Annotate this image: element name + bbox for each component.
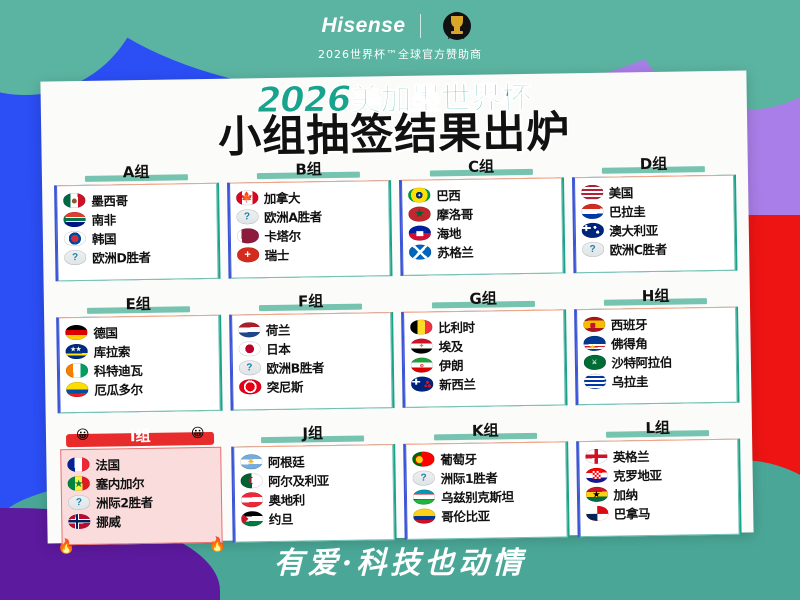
team-name: 葡萄牙 bbox=[440, 449, 477, 469]
group-header: B组 bbox=[228, 158, 389, 181]
team-row[interactable]: 德国 bbox=[65, 321, 213, 342]
group-team-list: ☀阿根廷☾阿尔及利亚奥地利约旦 bbox=[233, 444, 395, 543]
groups-grid: A组墨西哥南非韩国?欧洲D胜者B组🍁加拿大?欧洲A胜者卡塔尔+瑞士C组✦巴西★摩… bbox=[56, 153, 740, 546]
group-label: H组 bbox=[642, 287, 670, 305]
team-row[interactable]: ☀阿根廷 bbox=[240, 450, 388, 471]
group-label: E组 bbox=[125, 295, 151, 313]
team-row[interactable]: 乌兹别克斯坦 bbox=[413, 485, 561, 506]
team-row[interactable]: ?欧洲D胜者 bbox=[64, 246, 212, 267]
team-name: 荷兰 bbox=[266, 320, 290, 339]
team-row[interactable]: 巴拉圭 bbox=[581, 200, 729, 221]
team-name: 库拉索 bbox=[94, 341, 131, 361]
group-card-I组[interactable]: 😀😀I组法国★塞内加尔?洲际2胜者挪威🔥🔥 bbox=[60, 425, 222, 546]
team-name: 海地 bbox=[437, 223, 461, 242]
team-row[interactable]: 比利时 bbox=[410, 315, 558, 336]
group-card-F组[interactable]: F组荷兰日本?欧洲B胜者突尼斯 bbox=[230, 290, 392, 411]
team-name: 克罗地亚 bbox=[613, 465, 662, 485]
team-row[interactable]: 苏格兰 bbox=[409, 240, 557, 261]
team-name: 日本 bbox=[266, 339, 290, 358]
team-row[interactable]: 澳大利亚 bbox=[581, 219, 729, 240]
flag-icon-uzbekistan bbox=[413, 489, 435, 504]
flag-icon-belgium bbox=[410, 319, 432, 334]
team-row[interactable]: ?欧洲B胜者 bbox=[238, 356, 386, 377]
group-header: L组 bbox=[577, 417, 738, 440]
flag-icon-norway bbox=[68, 514, 90, 529]
team-name: 约旦 bbox=[269, 509, 293, 528]
flag-icon-unknown: ? bbox=[68, 495, 90, 510]
team-row[interactable]: ?洲际1胜者 bbox=[413, 466, 561, 487]
team-row[interactable]: 约旦 bbox=[241, 507, 389, 528]
group-label: I组 bbox=[130, 427, 151, 445]
team-name: 澳大利亚 bbox=[609, 220, 658, 240]
flag-icon-argentina: ☀ bbox=[240, 454, 262, 469]
team-name: 比利时 bbox=[438, 317, 475, 337]
team-row[interactable]: 奥地利 bbox=[240, 488, 388, 509]
team-row[interactable]: ★摩洛哥 bbox=[408, 202, 556, 223]
team-name: 欧洲A胜者 bbox=[264, 206, 322, 226]
flag-icon-algeria: ☾ bbox=[240, 473, 262, 488]
slogan-text: 有爱·科技也动情 bbox=[274, 546, 526, 581]
group-label: G组 bbox=[469, 289, 497, 307]
group-label: J组 bbox=[302, 424, 323, 442]
team-name: 科特迪瓦 bbox=[94, 360, 143, 380]
smiley-face-icon-left: 😀 bbox=[76, 428, 90, 441]
fifa-trophy-icon: FIFA bbox=[435, 10, 479, 42]
group-label: A组 bbox=[123, 163, 150, 181]
flag-icon-unknown: ? bbox=[236, 209, 258, 224]
fifa-label: FIFA bbox=[435, 34, 479, 41]
flag-icon-unknown: ? bbox=[238, 360, 260, 375]
flag-icon-ecuador bbox=[66, 382, 88, 397]
hisense-logo: Hisense bbox=[321, 14, 405, 38]
team-row[interactable]: 荷兰 bbox=[238, 318, 386, 339]
team-name: 突尼斯 bbox=[267, 376, 304, 396]
flag-icon-haiti bbox=[409, 225, 431, 240]
team-row[interactable]: 厄瓜多尔 bbox=[66, 378, 214, 399]
flag-icon-egypt: ✦ bbox=[411, 338, 433, 353]
group-team-list: 德国★★库拉索科特迪瓦厄瓜多尔 bbox=[58, 315, 220, 414]
flag-icon-ivory-coast bbox=[66, 363, 88, 378]
team-name: 加拿大 bbox=[264, 188, 301, 208]
flag-icon-scotland bbox=[409, 244, 431, 259]
flag-icon-spain bbox=[583, 317, 605, 332]
sponsor-subtitle: 2026世界杯™全球官方赞助商 bbox=[318, 46, 482, 62]
team-row[interactable]: 巴拿马 bbox=[586, 502, 734, 523]
team-name: 欧洲C胜者 bbox=[609, 239, 666, 259]
poster-content: 2026美加墨世界杯 小组抽签结果出炉 A组墨西哥南非韩国?欧洲D胜者B组🍁加拿… bbox=[40, 70, 753, 543]
flag-icon-mexico bbox=[63, 193, 85, 208]
team-row[interactable]: ✦埃及 bbox=[410, 334, 558, 355]
team-name: 洲际2胜者 bbox=[96, 492, 153, 512]
team-row[interactable]: 挪威 bbox=[68, 510, 216, 531]
team-row[interactable]: 乌拉圭 bbox=[584, 370, 732, 391]
flag-icon-australia bbox=[581, 223, 603, 238]
header: Hisense FIFA 2026世界杯™全球官方赞助商 bbox=[0, 0, 800, 72]
team-row[interactable]: 西班牙 bbox=[583, 313, 731, 334]
team-name: 挪威 bbox=[96, 511, 120, 530]
flag-icon-unknown: ? bbox=[413, 470, 435, 485]
team-row[interactable]: ★★库拉索 bbox=[66, 340, 214, 361]
team-row[interactable]: 南非 bbox=[63, 208, 211, 229]
group-team-list: 墨西哥南非韩国?欧洲D胜者 bbox=[56, 183, 218, 282]
team-name: 欧洲B胜者 bbox=[266, 357, 324, 377]
flag-icon-morocco: ★ bbox=[408, 206, 430, 221]
flag-icon-brazil: ✦ bbox=[408, 187, 430, 202]
team-row[interactable]: ✦巴西 bbox=[408, 183, 556, 204]
team-row[interactable]: ?洲际2胜者 bbox=[68, 491, 216, 512]
group-team-list: 美国巴拉圭澳大利亚?欧洲C胜者 bbox=[573, 175, 735, 274]
flag-icon-new-zealand bbox=[411, 376, 433, 391]
group-team-list: 英格兰克罗地亚★加纳巴拿马 bbox=[578, 439, 740, 538]
flag-icon-colombia bbox=[413, 508, 435, 523]
group-team-list: 西班牙★佛得角⚔沙特阿拉伯乌拉圭 bbox=[576, 307, 738, 406]
team-row[interactable]: 美国 bbox=[581, 181, 729, 202]
vertical-divider-icon bbox=[420, 14, 421, 38]
flag-icon-paraguay bbox=[581, 204, 603, 219]
group-header: J组 bbox=[232, 422, 393, 445]
footer: 有爱·科技也动情 bbox=[0, 538, 800, 582]
title-block: 2026美加墨世界杯 小组抽签结果出炉 bbox=[41, 76, 748, 163]
team-name: 阿尔及利亚 bbox=[268, 470, 329, 490]
flag-icon-south-korea bbox=[64, 231, 86, 246]
team-row[interactable]: +瑞士 bbox=[237, 243, 385, 264]
team-row[interactable]: 科特迪瓦 bbox=[66, 359, 214, 380]
flag-icon-england bbox=[585, 449, 607, 464]
flag-icon-tunisia bbox=[239, 379, 261, 394]
group-card-A组[interactable]: A组墨西哥南非韩国?欧洲D胜者 bbox=[56, 161, 218, 282]
team-name: 英格兰 bbox=[613, 446, 650, 466]
flag-icon-germany bbox=[65, 325, 87, 340]
team-name: 厄瓜多尔 bbox=[94, 379, 143, 399]
team-name: 伊朗 bbox=[439, 355, 463, 374]
team-row[interactable]: ۞伊朗 bbox=[411, 353, 559, 374]
team-name: 法国 bbox=[95, 454, 119, 473]
flag-icon-switzerland: + bbox=[237, 247, 259, 262]
team-name: 美国 bbox=[609, 182, 633, 201]
team-row[interactable]: 英格兰 bbox=[585, 445, 733, 466]
flag-icon-senegal: ★ bbox=[68, 476, 90, 491]
group-card-J组[interactable]: J组☀阿根廷☾阿尔及利亚奥地利约旦 bbox=[232, 422, 394, 543]
team-name: 哥伦比亚 bbox=[441, 506, 490, 526]
flag-icon-iran: ۞ bbox=[411, 357, 433, 372]
team-name: 乌兹别克斯坦 bbox=[441, 486, 514, 506]
team-row[interactable]: 韩国 bbox=[64, 227, 212, 248]
team-name: 埃及 bbox=[438, 336, 462, 355]
team-name: 巴拉圭 bbox=[609, 201, 646, 221]
team-row[interactable]: ?欧洲C胜者 bbox=[581, 238, 729, 259]
flag-icon-canada: 🍁 bbox=[236, 190, 258, 205]
flag-icon-japan bbox=[238, 341, 260, 356]
group-label: C组 bbox=[468, 157, 494, 175]
group-team-list: 葡萄牙?洲际1胜者乌兹别克斯坦哥伦比亚 bbox=[405, 441, 567, 540]
group-team-list: 比利时✦埃及۞伊朗新西兰 bbox=[403, 309, 565, 408]
group-label: K组 bbox=[472, 421, 499, 439]
group-card-E组[interactable]: E组德国★★库拉索科特迪瓦厄瓜多尔 bbox=[58, 293, 220, 414]
team-row[interactable]: 墨西哥 bbox=[63, 189, 211, 210]
group-header: D组 bbox=[573, 153, 734, 176]
group-header: 😀😀I组 bbox=[60, 425, 221, 448]
team-row[interactable]: 哥伦比亚 bbox=[413, 504, 561, 525]
flag-icon-croatia bbox=[585, 468, 607, 483]
team-name: 乌拉圭 bbox=[612, 371, 649, 391]
flag-icon-curacao: ★★ bbox=[66, 344, 88, 359]
group-label: L组 bbox=[645, 419, 670, 437]
team-row[interactable]: ★加纳 bbox=[585, 483, 733, 504]
group-team-list: 🍁加拿大?欧洲A胜者卡塔尔+瑞士 bbox=[229, 180, 391, 279]
team-row[interactable]: 新西兰 bbox=[411, 372, 559, 393]
team-name: 摩洛哥 bbox=[436, 204, 473, 224]
group-team-list: 荷兰日本?欧洲B胜者突尼斯 bbox=[231, 312, 393, 411]
brand-row: Hisense FIFA bbox=[321, 11, 478, 41]
team-row[interactable]: 日本 bbox=[238, 337, 386, 358]
team-row[interactable]: 卡塔尔 bbox=[236, 224, 384, 245]
flag-icon-netherlands bbox=[238, 322, 260, 337]
team-name: 苏格兰 bbox=[437, 242, 474, 262]
team-row[interactable]: 克罗地亚 bbox=[585, 464, 733, 485]
team-name: 沙特阿拉伯 bbox=[611, 352, 672, 372]
team-name: 塞内加尔 bbox=[96, 473, 145, 493]
team-name: 德国 bbox=[93, 322, 117, 341]
team-row[interactable]: 葡萄牙 bbox=[412, 447, 560, 468]
group-card-D组[interactable]: D组美国巴拉圭澳大利亚?欧洲C胜者 bbox=[573, 153, 735, 274]
group-label: B组 bbox=[295, 160, 322, 178]
flag-icon-panama bbox=[586, 506, 608, 521]
flag-icon-ghana: ★ bbox=[585, 487, 607, 502]
group-team-list: 法国★塞内加尔?洲际2胜者挪威 bbox=[60, 447, 222, 546]
team-name: 阿根廷 bbox=[268, 451, 305, 471]
team-row[interactable]: ☾阿尔及利亚 bbox=[240, 469, 388, 490]
team-row[interactable]: 突尼斯 bbox=[239, 375, 387, 396]
team-name: 瑞士 bbox=[265, 245, 289, 264]
team-name: 巴拿马 bbox=[614, 503, 651, 523]
flag-icon-unknown: ? bbox=[582, 242, 604, 257]
team-name: 佛得角 bbox=[611, 333, 648, 353]
flag-icon-jordan bbox=[241, 511, 263, 526]
group-card-K组[interactable]: K组葡萄牙?洲际1胜者乌兹别克斯坦哥伦比亚 bbox=[405, 419, 567, 540]
group-header: K组 bbox=[405, 419, 566, 442]
flag-icon-cape-verde: ★ bbox=[583, 336, 605, 351]
team-row[interactable]: ⚔沙特阿拉伯 bbox=[583, 351, 731, 372]
team-name: 洲际1胜者 bbox=[441, 467, 498, 487]
team-name: 韩国 bbox=[92, 228, 116, 247]
team-row[interactable]: ★塞内加尔 bbox=[68, 472, 216, 493]
group-card-B组[interactable]: B组🍁加拿大?欧洲A胜者卡塔尔+瑞士 bbox=[228, 158, 390, 279]
group-header: G组 bbox=[403, 287, 564, 310]
group-label: D组 bbox=[640, 155, 668, 173]
team-name: 南非 bbox=[91, 209, 115, 228]
group-header: F组 bbox=[230, 290, 391, 313]
group-card-C组[interactable]: C组✦巴西★摩洛哥海地苏格兰 bbox=[401, 155, 563, 276]
group-team-list: ✦巴西★摩洛哥海地苏格兰 bbox=[401, 177, 563, 276]
group-header: A组 bbox=[56, 161, 217, 184]
flag-icon-unknown: ? bbox=[64, 250, 86, 265]
team-name: 新西兰 bbox=[439, 374, 476, 394]
flag-icon-austria bbox=[240, 492, 262, 507]
team-name: 墨西哥 bbox=[91, 190, 128, 210]
team-row[interactable]: 海地 bbox=[409, 221, 557, 242]
team-name: 卡塔尔 bbox=[264, 226, 301, 246]
team-name: 西班牙 bbox=[611, 314, 648, 334]
flag-icon-usa bbox=[581, 185, 603, 200]
flag-icon-saudi-arabia: ⚔ bbox=[583, 355, 605, 370]
flag-icon-portugal bbox=[412, 451, 434, 466]
group-header: E组 bbox=[58, 293, 219, 316]
group-header: C组 bbox=[401, 155, 562, 178]
team-row[interactable]: ?欧洲A胜者 bbox=[236, 205, 384, 226]
team-name: 加纳 bbox=[613, 484, 637, 503]
flag-icon-south-africa bbox=[63, 212, 85, 227]
team-name: 巴西 bbox=[436, 185, 460, 204]
flag-icon-qatar bbox=[236, 228, 258, 243]
group-header: H组 bbox=[575, 285, 736, 308]
team-name: 欧洲D胜者 bbox=[92, 247, 151, 267]
team-row[interactable]: 法国 bbox=[67, 453, 215, 474]
group-card-G组[interactable]: G组比利时✦埃及۞伊朗新西兰 bbox=[403, 287, 565, 408]
group-card-H组[interactable]: H组西班牙★佛得角⚔沙特阿拉伯乌拉圭 bbox=[575, 285, 737, 406]
team-row[interactable]: ★佛得角 bbox=[583, 332, 731, 353]
flag-icon-france bbox=[67, 457, 89, 472]
group-card-L组[interactable]: L组英格兰克罗地亚★加纳巴拿马 bbox=[577, 417, 739, 538]
flag-icon-uruguay bbox=[584, 374, 606, 389]
team-name: 奥地利 bbox=[268, 489, 305, 509]
group-label: F组 bbox=[298, 292, 324, 310]
team-row[interactable]: 🍁加拿大 bbox=[236, 186, 384, 207]
smiley-face-icon-right: 😀 bbox=[191, 426, 205, 439]
